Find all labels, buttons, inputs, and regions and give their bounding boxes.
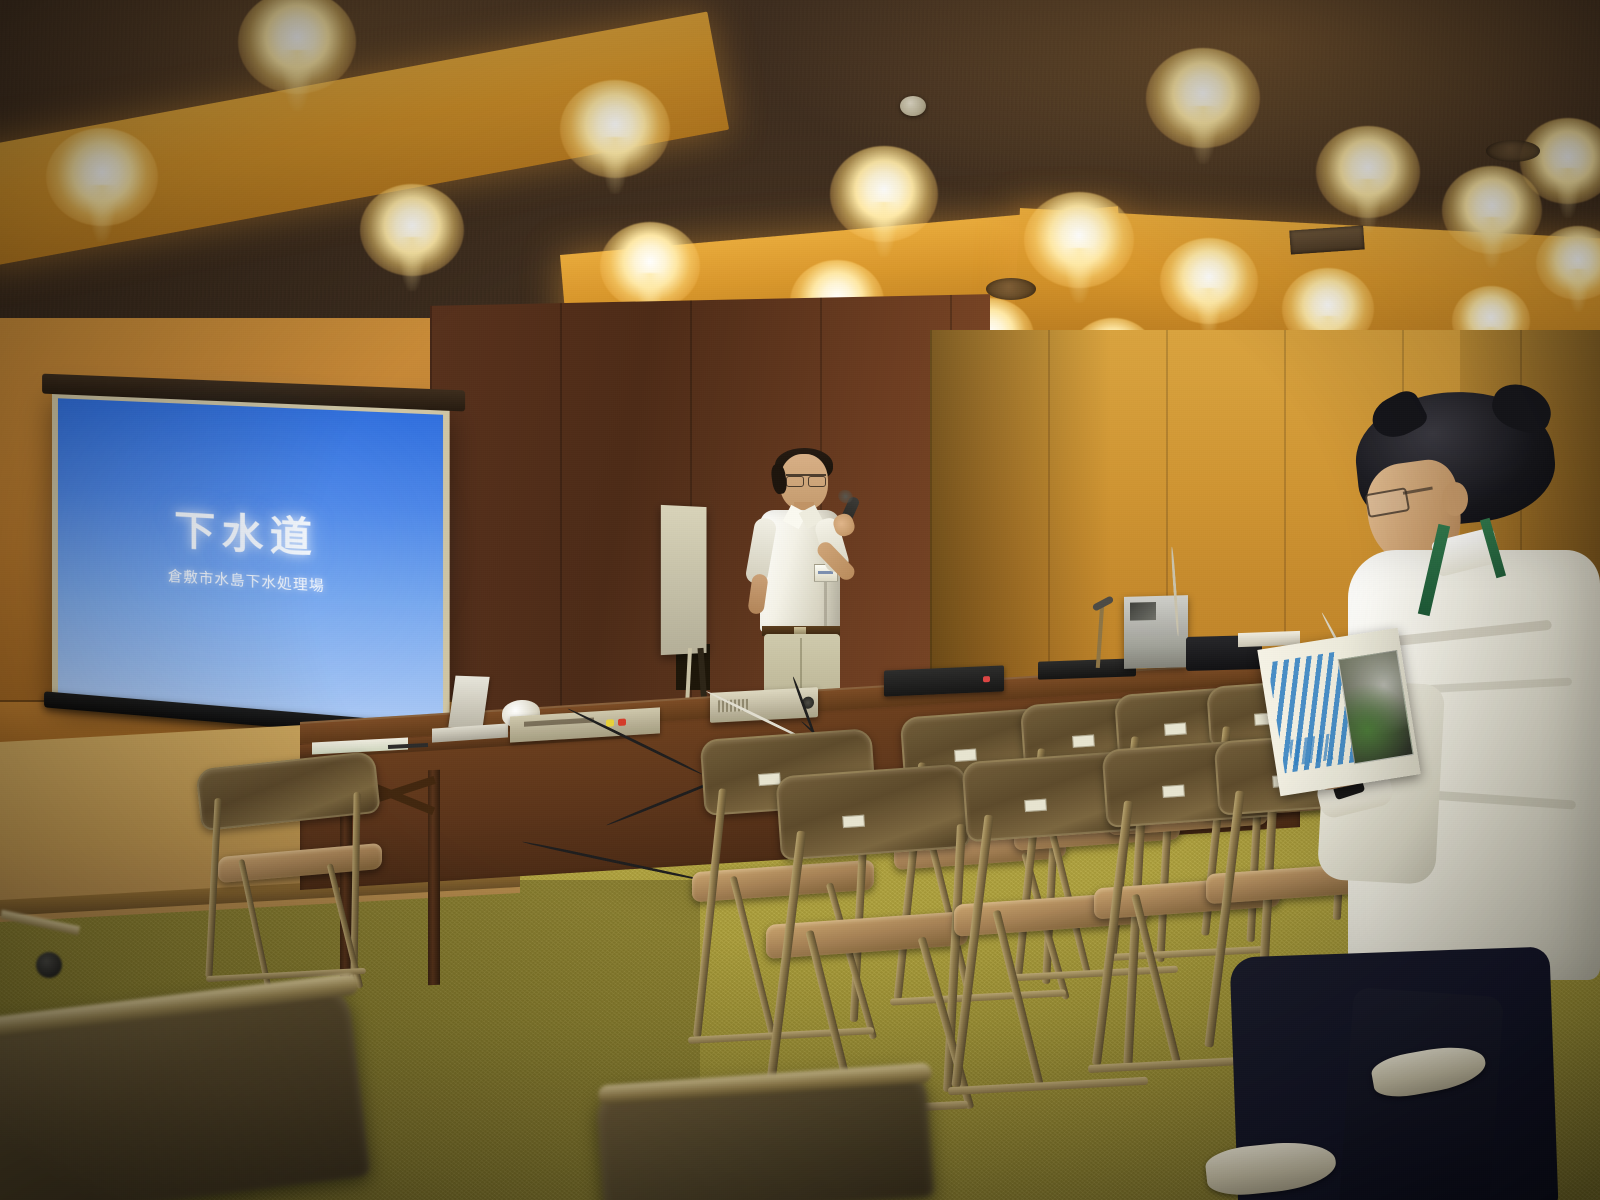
chair-leg (763, 831, 806, 1112)
chair-leg (992, 910, 1043, 1087)
chair-backrest (775, 763, 970, 860)
chair-leg (1131, 894, 1181, 1065)
laptop-screen[interactable] (448, 676, 489, 729)
smoke-detector-icon (900, 96, 926, 116)
conference-room-scene: 下水道 倉敷市水島下水処理場 (0, 0, 1600, 1200)
slide-title: 下水道 (58, 490, 443, 572)
audience-ear (1442, 482, 1468, 516)
chair-leg (1092, 800, 1133, 1065)
ceiling-speaker-icon (1486, 140, 1540, 162)
ceiling-speaker-icon (986, 278, 1036, 300)
chair-seat-label (1164, 722, 1187, 736)
whiteboard-easel (661, 505, 707, 655)
audience-member (1196, 392, 1600, 1200)
chair-rail (948, 1077, 1148, 1095)
amplifier-unit[interactable] (1038, 658, 1136, 679)
mixer-led-red (618, 718, 626, 725)
projected-slide: 下水道 倉敷市水島下水処理場 (58, 398, 443, 726)
air-vent-icon (1289, 225, 1364, 254)
glasses-icon (786, 474, 826, 485)
mixer-fader-strip[interactable] (524, 717, 594, 726)
chair-seat (766, 911, 968, 959)
brochure[interactable] (1257, 628, 1420, 796)
chair-leg (951, 814, 993, 1087)
amplifier-unit[interactable] (884, 665, 1004, 696)
table-leg (428, 770, 440, 985)
amplifier-power-led (983, 676, 990, 682)
chair-leg (693, 788, 727, 1037)
speaker-grille-icon (1130, 602, 1156, 621)
chair-seat-label (1024, 799, 1047, 813)
projection-screen: 下水道 倉敷市水島下水処理場 (52, 392, 450, 738)
cart-wheel-icon (36, 952, 62, 978)
folding-chair[interactable] (192, 758, 392, 998)
chair-seat-label (842, 815, 865, 829)
chair-seat-label (1162, 784, 1185, 798)
